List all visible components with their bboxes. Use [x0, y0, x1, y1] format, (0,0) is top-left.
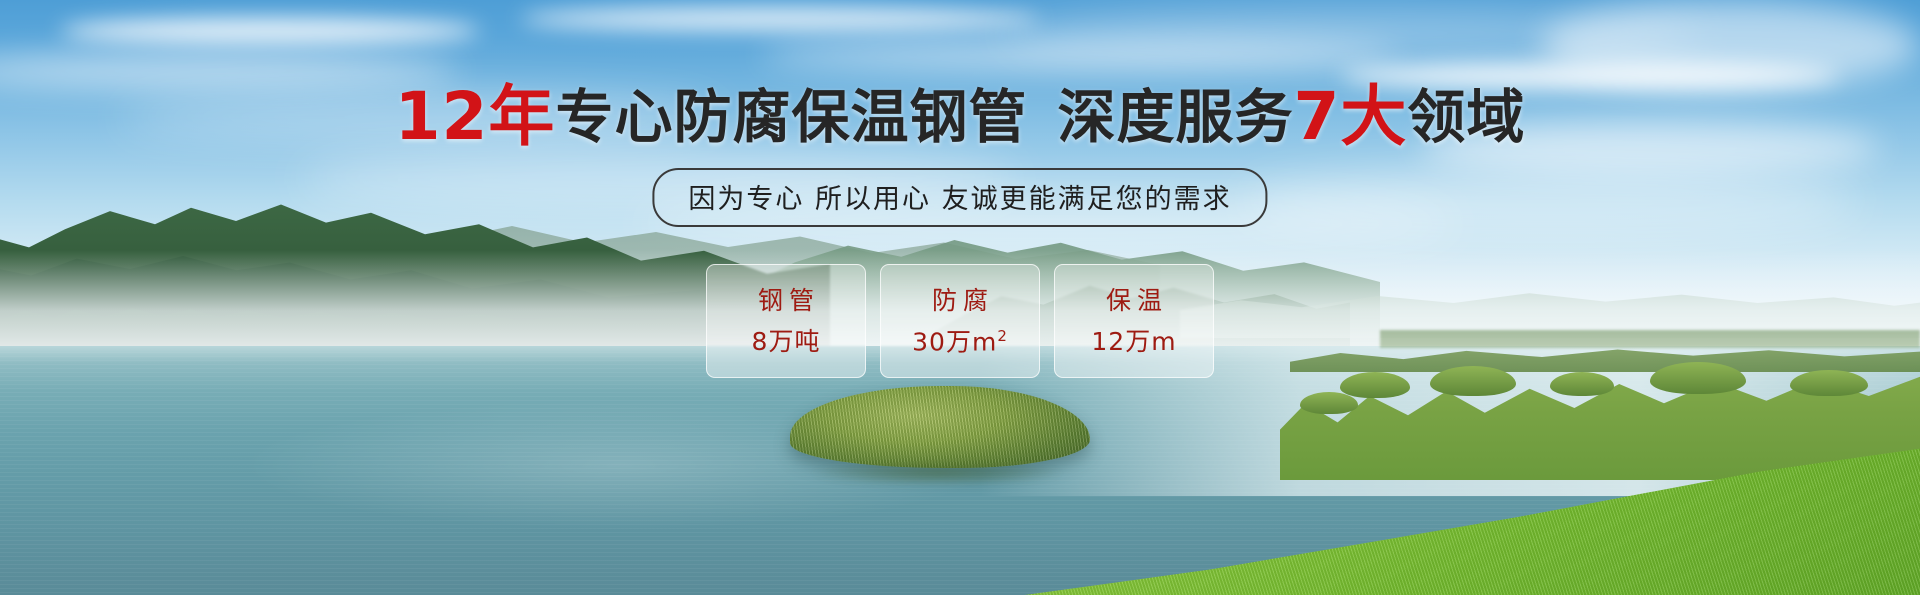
stat-label: 防腐: [926, 288, 994, 313]
text-overlay: 12年专心防腐保温钢管深度服务7大领域 因为专心 所以用心 友诚更能满足您的需求…: [0, 0, 1920, 595]
stat-label: 钢管: [752, 288, 820, 313]
stat-card-insulation: 保温 12万m: [1054, 264, 1214, 378]
stat-card-anticorrosion: 防腐 30万m2: [880, 264, 1040, 378]
banner-headline: 12年专心防腐保温钢管深度服务7大领域: [0, 84, 1920, 150]
headline-years: 12年: [395, 78, 556, 155]
banner-subtitle-pill: 因为专心 所以用心 友诚更能满足您的需求: [652, 168, 1267, 227]
promotional-banner: 12年专心防腐保温钢管深度服务7大领域 因为专心 所以用心 友诚更能满足您的需求…: [0, 0, 1920, 595]
stat-label: 保温: [1100, 288, 1168, 313]
headline-suffix: 领域: [1407, 83, 1525, 151]
stat-value-number: 30万m: [912, 327, 997, 356]
banner-subtitle-text: 因为专心 所以用心 友诚更能满足您的需求: [688, 184, 1231, 215]
stat-value: 12万m: [1091, 329, 1176, 354]
headline-main: 专心防腐保温钢管: [555, 83, 1027, 151]
stat-card-steel-pipe: 钢管 8万吨: [706, 264, 866, 378]
headline-sectors: 7大: [1293, 78, 1407, 155]
stat-value-exponent: 2: [997, 327, 1008, 345]
stat-value-number: 12万m: [1091, 327, 1176, 356]
stat-value-number: 8万吨: [752, 327, 821, 356]
stat-value: 8万吨: [752, 329, 821, 354]
headline-service: 深度服务: [1057, 83, 1293, 151]
stats-card-group: 钢管 8万吨 防腐 30万m2 保温 12万m: [706, 264, 1214, 378]
stat-value: 30万m2: [912, 329, 1008, 354]
